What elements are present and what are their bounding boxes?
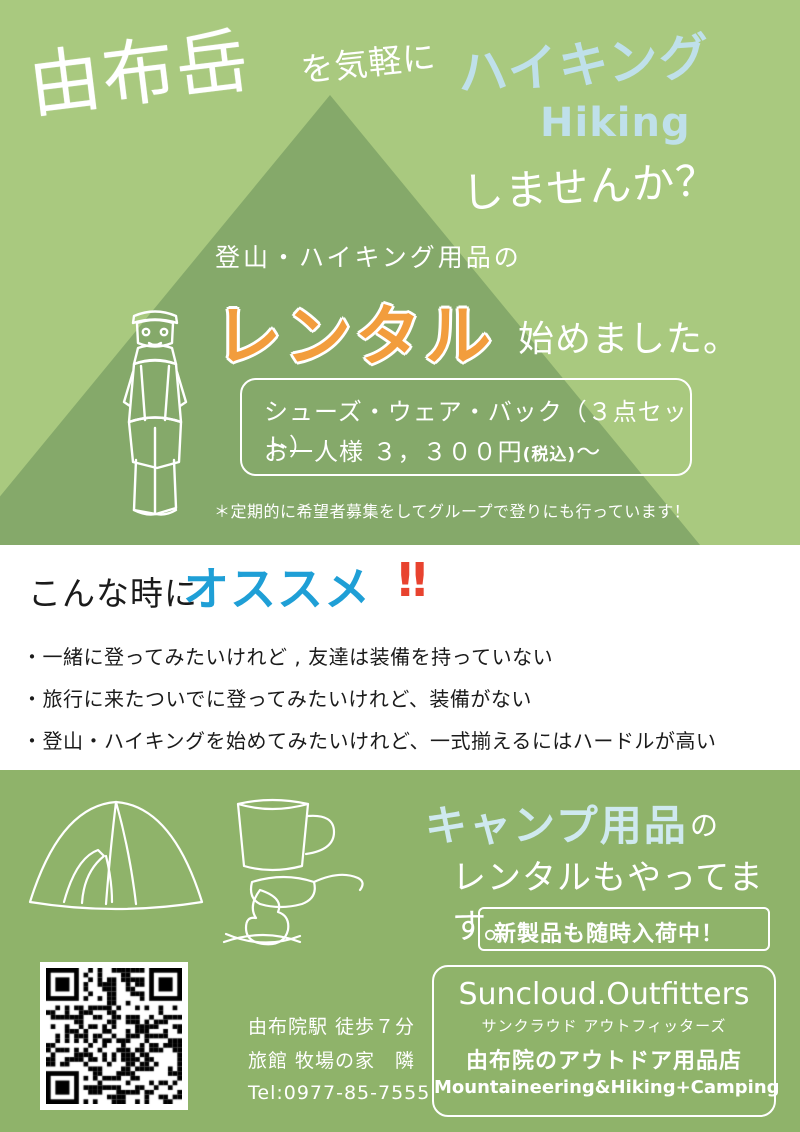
camping-section: キャンプ用品 の レンタルもやってます。 新製品も随時入荷中！ Suncloud… — [0, 770, 800, 1132]
shop-english-line: Mountaineering&Hiking+Camping — [434, 1077, 774, 1098]
recommend-section: こんな時に オススメ ‼ ・一緒に登ってみたいけれど , 友達は装備を持っていな… — [0, 545, 800, 770]
camping-heading-particle: の — [690, 804, 718, 844]
frying-pan-icon — [251, 875, 363, 907]
new-products-badge: 新製品も随時入荷中！ — [478, 907, 770, 951]
address-line-1: 由布院駅 徒歩７分 — [248, 1012, 415, 1039]
hero-title-mountain: 由布岳 — [22, 1, 255, 132]
hero-title-question: しませんか？ — [460, 147, 720, 221]
hero-title-hiking-jp: ハイキング — [455, 16, 712, 105]
recommend-bang: ‼ — [398, 553, 425, 607]
shop-description: 由布院のアウトドア用品店 — [434, 1043, 774, 1075]
price-tilde: 〜 — [576, 438, 601, 466]
hiker-icon — [100, 292, 210, 522]
recommend-lead: こんな時に — [28, 567, 198, 615]
hero-rental-suffix: 始めました。 — [518, 310, 740, 362]
hero-rental-word: レンタル — [215, 283, 495, 379]
price-box: シューズ・ウェア・バック（３点セット） お一人様 ３，３００円(税込)〜 — [240, 378, 692, 476]
shop-info-box: Suncloud.Outfitters サンクラウド アウトフィッターズ 由布院… — [432, 965, 776, 1117]
mug-icon — [238, 800, 334, 870]
shop-brand-jp: サンクラウド アウトフィッターズ — [434, 1015, 774, 1036]
price-amount-row: お一人様 ３，３００円(税込)〜 — [264, 432, 601, 467]
hero-section: 由布岳 を気軽に ハイキング Hiking しませんか？ — [0, 0, 800, 545]
list-item: ・旅行に来たついでに登ってみたいけれど、装備がない — [22, 683, 532, 712]
list-item: ・一緒に登ってみたいけれど , 友達は装備を持っていない — [22, 641, 553, 670]
new-products-badge-label: 新製品も随時入荷中！ — [494, 916, 724, 948]
hero-subtitle: 登山・ハイキング用品の — [215, 238, 522, 274]
price-amount: お一人様 ３，３００円 — [264, 438, 523, 466]
camping-heading: キャンプ用品 — [425, 792, 688, 853]
hero-title-connector: を気軽に — [298, 30, 438, 92]
recommend-headline: オススメ — [183, 553, 371, 619]
price-tax-label: (税込) — [523, 445, 577, 465]
telephone: Tel:0977-85-7555 — [248, 1082, 430, 1104]
campfire-icon — [224, 890, 300, 944]
flyer-page: 由布岳 を気軽に ハイキング Hiking しませんか？ — [0, 0, 800, 1132]
address-line-2: 旅館 牧場の家 隣 — [248, 1046, 415, 1073]
tent-icon — [30, 802, 202, 909]
camp-illustration — [20, 790, 420, 960]
shop-brand: Suncloud.Outfitters — [434, 977, 774, 1012]
qr-code[interactable] — [40, 962, 188, 1110]
list-item: ・登山・ハイキングを始めてみたいけれど、一式揃えるにはハードルが高い — [22, 725, 716, 754]
hero-note: ＊定期的に希望者募集をしてグループで登りにも行っています！ — [214, 498, 690, 522]
hero-title-hiking-en: Hiking — [540, 100, 691, 146]
